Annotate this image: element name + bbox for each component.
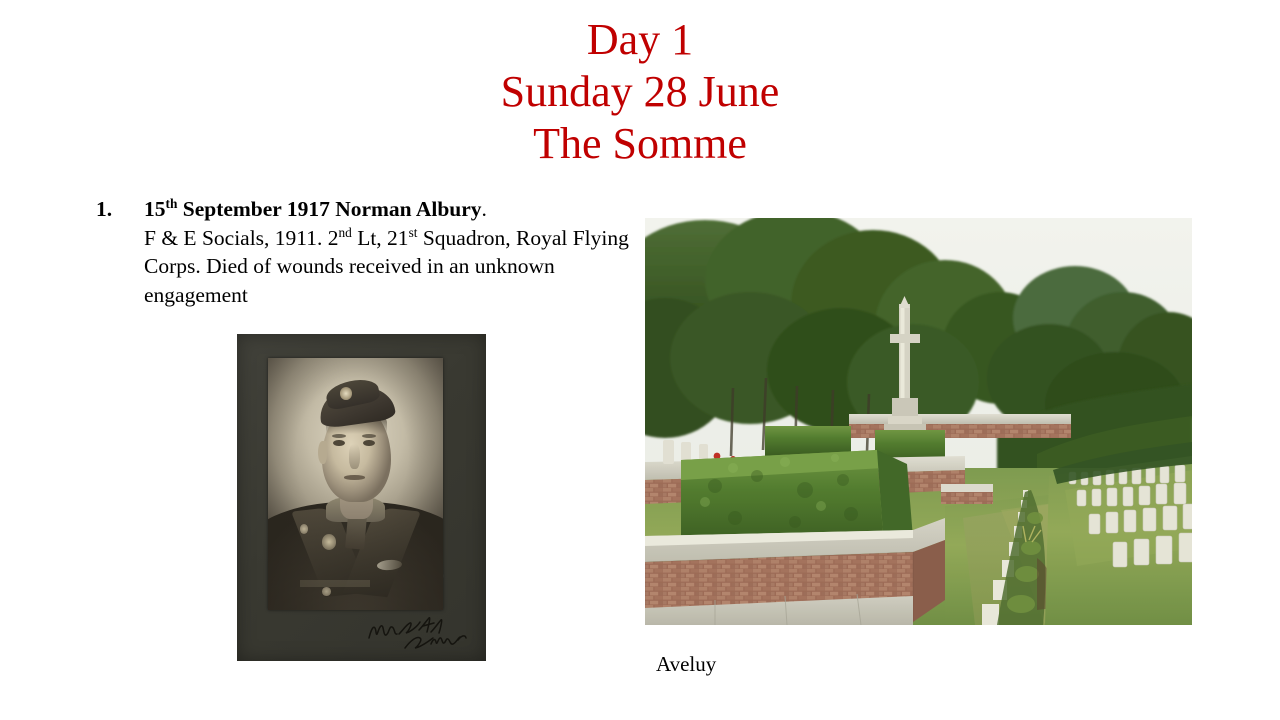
cemetery-photo [645, 218, 1192, 625]
title-line-3: The Somme [0, 118, 1280, 170]
entry-day: 15 [144, 197, 166, 221]
entry-detail-2: Lt, 21 [352, 226, 409, 250]
slide-title: Day 1 Sunday 28 June The Somme [0, 14, 1280, 170]
rank-ordinal-suffix: nd [339, 224, 352, 239]
entry-detail-1: F & E Socials, 1911. 2 [144, 226, 339, 250]
cemetery-illustration [645, 218, 1192, 625]
entry-detail: F & E Socials, 1911. 2nd Lt, 21st Squadr… [144, 224, 641, 310]
list-marker: 1. [96, 195, 144, 224]
list-item: 1. 15th September 1917 Norman Albury. F … [96, 195, 641, 309]
entry-headline: 15th September 1917 Norman Albury [144, 197, 482, 221]
entry-day-suffix: th [166, 196, 178, 211]
cemetery-caption: Aveluy [656, 652, 716, 677]
officer-portrait-photo [237, 334, 486, 661]
body-text-block: 1. 15th September 1917 Norman Albury. F … [96, 195, 641, 309]
portrait-image-area [268, 358, 443, 610]
portrait-vignette [268, 358, 443, 610]
title-line-2: Sunday 28 June [0, 66, 1280, 118]
list-item-body: 15th September 1917 Norman Albury. F & E… [144, 195, 641, 309]
entry-period: . [482, 197, 487, 221]
entry-name: September 1917 Norman Albury [177, 197, 481, 221]
title-line-1: Day 1 [0, 14, 1280, 66]
